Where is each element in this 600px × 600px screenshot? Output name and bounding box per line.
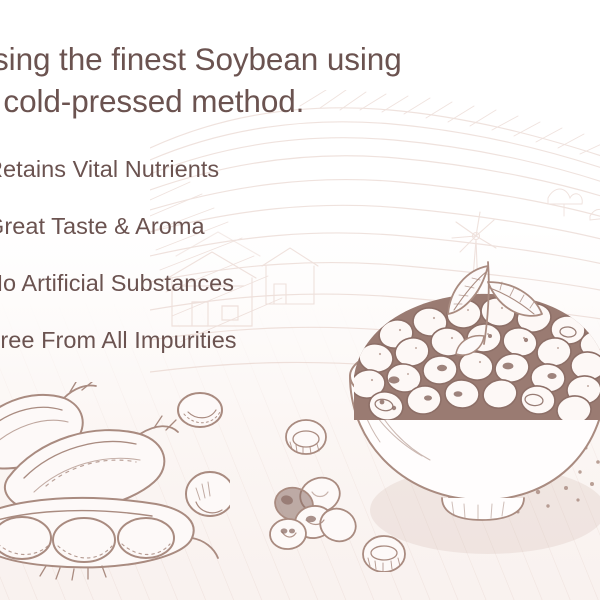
benefit-label: Free From All Impurities xyxy=(0,329,237,353)
benefit-item-free-from-all-impurities: Free From All Impurities xyxy=(0,329,406,386)
soybean-oil-banner: racted using the finest Soybean using ch… xyxy=(0,0,600,600)
soybean-pods-engraving xyxy=(0,382,230,600)
benefit-item-great-taste-aroma: Great Taste & Aroma xyxy=(0,215,406,272)
headline: racted using the finest Soybean using ch… xyxy=(0,38,600,122)
benefit-item-retains-vital-nutrients: Retains Vital Nutrients xyxy=(0,158,406,215)
headline-line-1: racted using the finest Soybean using xyxy=(0,38,600,80)
benefit-label: Retains Vital Nutrients xyxy=(0,158,219,182)
headline-line-2: chanical cold-pressed method. xyxy=(0,80,600,122)
scattered-soybeans-engraving xyxy=(258,392,408,572)
benefit-label: Great Taste & Aroma xyxy=(0,215,205,239)
benefit-label: No Artificial Substances xyxy=(0,272,234,296)
benefit-item-no-artificial-substances: No Artificial Substances xyxy=(0,272,406,329)
benefits-list: Retains Vital Nutrients Great Taste & Ar… xyxy=(0,158,406,386)
